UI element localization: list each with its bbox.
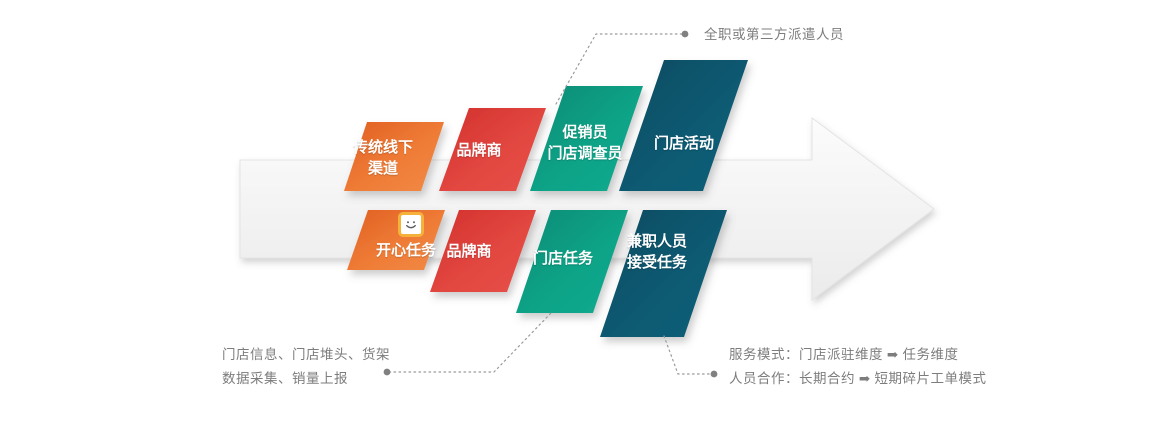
data-collection-note: 门店信息、门店堆头、货架 数据采集、销量上报: [222, 343, 390, 391]
annotation-line: 人员合作：长期合约 ➡ 短期碎片工单模式: [729, 367, 987, 391]
row-traditional: [344, 60, 748, 191]
service-model-note: 服务模式：门店派驻维度 ➡ 任务维度 人员合作：长期合约 ➡ 短期碎片工单模式: [729, 343, 987, 391]
leader-dot-top-right: [682, 31, 689, 38]
annotation-line: 数据采集、销量上报: [222, 367, 390, 391]
annotation-line: 门店信息、门店堆头、货架: [222, 343, 390, 367]
leader-bottom-right: [664, 336, 712, 374]
diagram-canvas: 传统线下 渠道 品牌商 促销员 门店调查员 门店活动 开心任务 品牌商 门店任务…: [0, 0, 1150, 430]
leader-dot-bottom-right: [711, 371, 718, 378]
annotation-line: 全职或第三方派遣人员: [704, 23, 844, 47]
annotation-line: 服务模式：门店派驻维度 ➡ 任务维度: [729, 343, 987, 367]
leader-bottom-left: [389, 313, 551, 372]
smiley-icon: [398, 212, 424, 237]
staffing-note: 全职或第三方派遣人员: [704, 23, 844, 47]
